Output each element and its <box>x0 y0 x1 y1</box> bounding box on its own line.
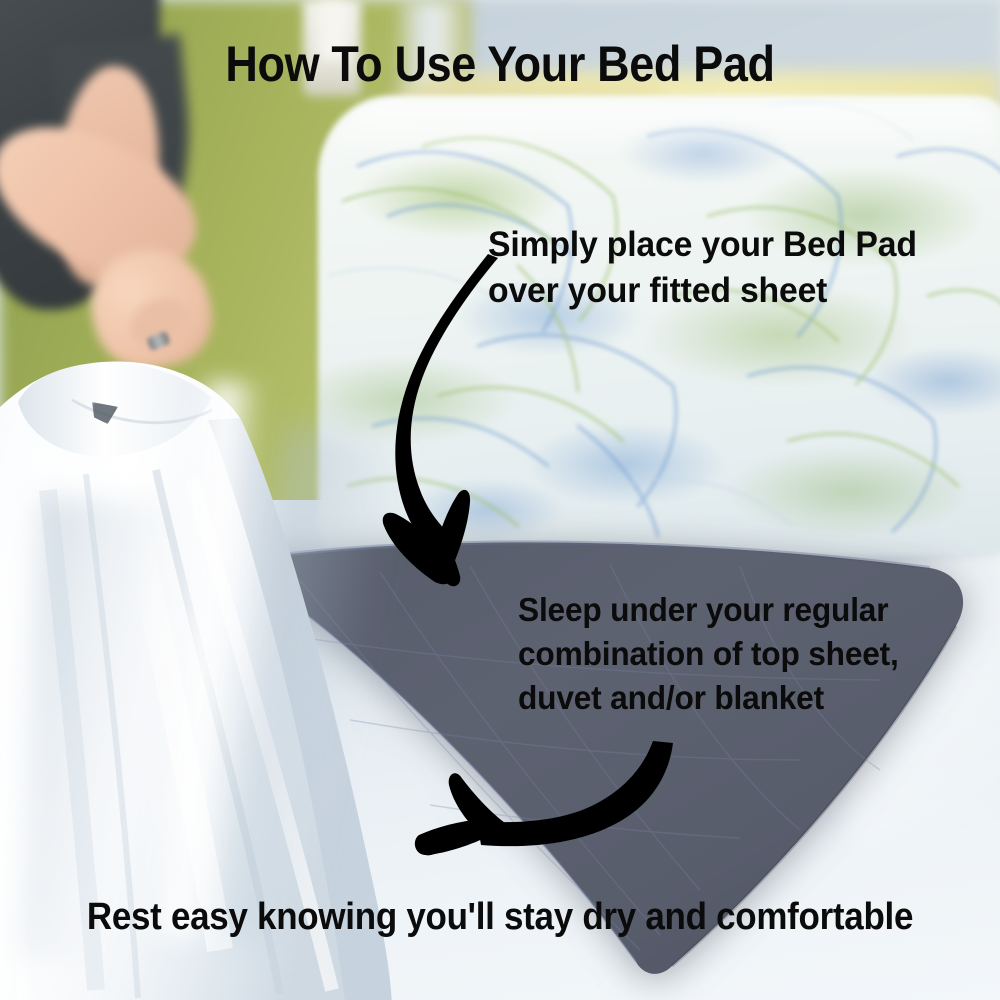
callout-sleep-under-line-2: combination of top sheet, <box>518 632 969 676</box>
callout-place-bed-pad-line-1: Simply place your Bed Pad <box>488 222 971 268</box>
sheet-shadow-left <box>18 497 162 963</box>
callout-sleep-under-line-1: Sleep under your regular <box>518 588 969 632</box>
callout-sleep-under-line-3: duvet and/or blanket <box>518 676 969 720</box>
bed-pad-infographic: How To Use Your Bed Pad Simply place you… <box>0 0 1000 1000</box>
footer-tagline: Rest easy knowing you'll stay dry and co… <box>40 896 960 939</box>
callout-sleep-under: Sleep under your regular combination of … <box>518 588 969 720</box>
page-title: How To Use Your Bed Pad <box>50 38 950 91</box>
callout-place-bed-pad-line-2: over your fitted sheet <box>488 268 971 314</box>
callout-place-bed-pad: Simply place your Bed Pad over your fitt… <box>488 222 971 313</box>
curved-left-arrow-icon <box>385 735 695 865</box>
pillow-highlight <box>330 100 1000 160</box>
